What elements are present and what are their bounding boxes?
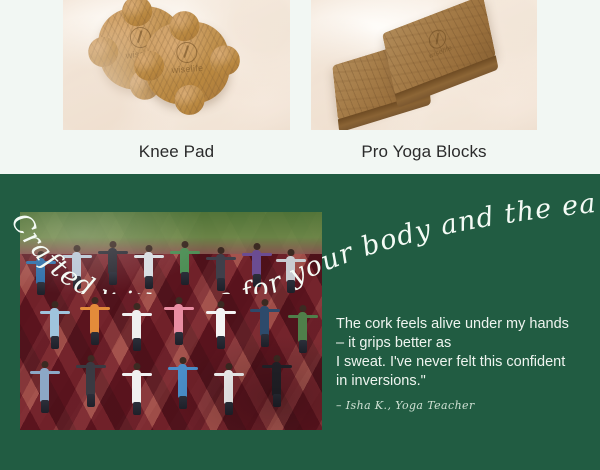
testimonial-block: The cork feels alive under my hands – it… [336, 315, 588, 412]
brand-logo-knee-pad-front: wiselife [144, 39, 230, 77]
knee-pad-shape-front: wiselife [142, 19, 232, 107]
photo-lighting-overlay [20, 212, 322, 430]
product-strip: wiselife wiselife Knee Pad [0, 0, 600, 174]
yoga-class-photo [20, 212, 322, 430]
green-banner-section: Crafted with care for your body and the … [0, 174, 600, 470]
testimonial-quote: The cork feels alive under my hands – it… [336, 315, 588, 391]
product-caption-pro-yoga-blocks: Pro Yoga Blocks [311, 142, 537, 162]
brand-logo-yoga-block: wiselife [424, 25, 452, 60]
product-photo-pro-yoga-blocks: wiselife [311, 0, 537, 130]
product-caption-knee-pad: Knee Pad [63, 142, 290, 162]
testimonial-attribution: – Isha K., Yoga Teacher [336, 399, 588, 412]
wiselife-emblem-icon [175, 41, 197, 63]
product-card-pro-yoga-blocks[interactable]: wiselife Pro Yoga Blocks [311, 0, 537, 162]
yoga-block-shape-front: wiselife [382, 0, 496, 95]
product-card-knee-pad[interactable]: wiselife wiselife Knee Pad [63, 0, 290, 162]
product-photo-knee-pad: wiselife wiselife [63, 0, 290, 130]
page-root: wiselife wiselife Knee Pad [0, 0, 600, 470]
brand-wordmark: wiselife [145, 61, 229, 77]
